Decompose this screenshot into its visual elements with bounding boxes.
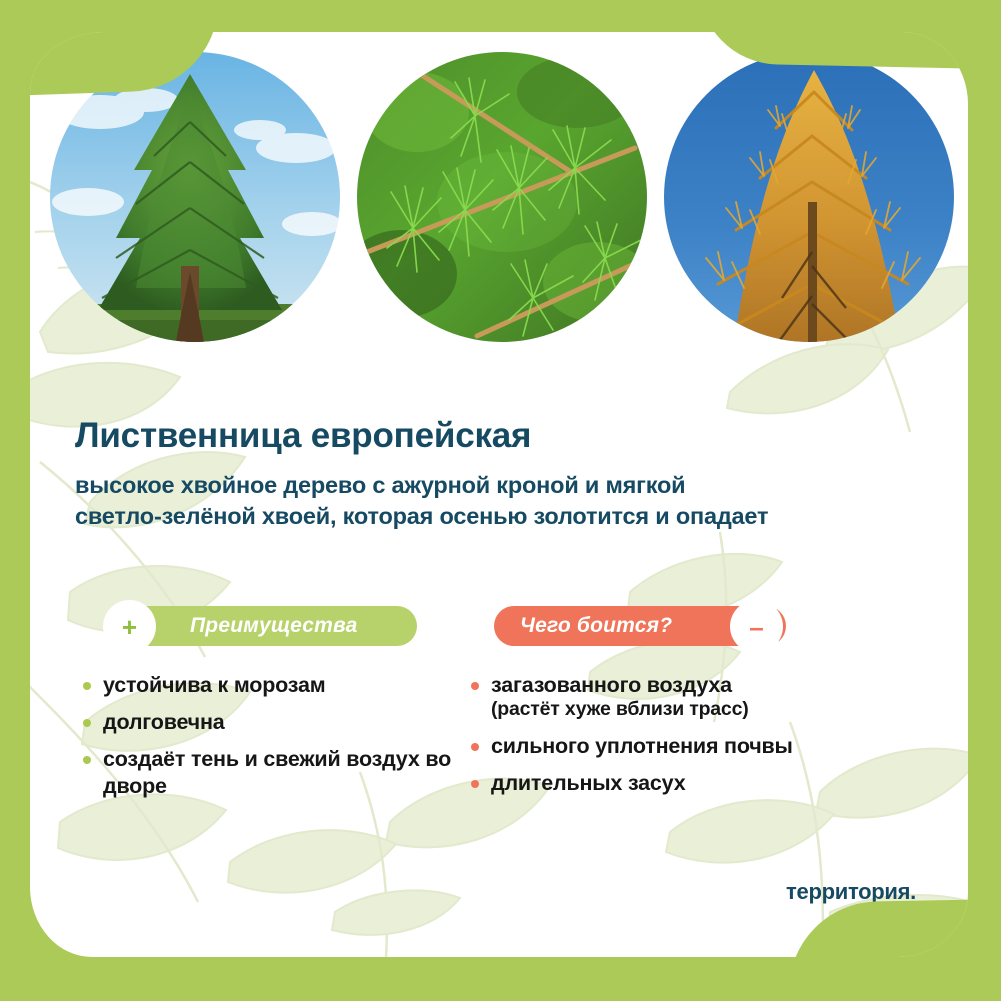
badge-pros-label: Преимущества xyxy=(190,614,358,638)
plus-icon: + xyxy=(103,600,156,653)
photo-strip xyxy=(30,32,968,392)
list-item: создаёт тень и свежий воздух во дворе xyxy=(75,746,463,798)
cons-list: загазованного воздуха (растёт хуже вблиз… xyxy=(463,672,933,796)
pros-item-text: устойчива к морозам xyxy=(103,673,325,697)
photo-larch-tree-autumn xyxy=(664,52,954,342)
card-corner-notch-bottom-right xyxy=(787,899,968,957)
pros-item-text: долговечна xyxy=(103,710,225,734)
cons-item-text: загазованного воздуха xyxy=(491,673,732,697)
text-block: Лиственница европейская высокое хвойное … xyxy=(75,417,935,533)
subtitle-line-2: светло-зелёной хвоей, которая осенью зол… xyxy=(75,503,768,529)
minus-icon: – xyxy=(730,600,783,653)
pros-list: устойчива к морозам долговечна создаёт т… xyxy=(75,672,463,799)
list-item: долговечна xyxy=(75,709,463,735)
lists-row: устойчива к морозам долговечна создаёт т… xyxy=(75,672,965,810)
badge-cons-label: Чего боится? xyxy=(520,614,672,638)
photo-larch-needles-closeup xyxy=(357,52,647,342)
pros-column: устойчива к морозам долговечна создаёт т… xyxy=(75,672,463,810)
cons-item-text: длительных засух xyxy=(491,771,685,795)
cons-item-note: (растёт хуже вблизи трасс) xyxy=(491,698,933,721)
photo-larch-needles-art xyxy=(357,52,647,342)
content-card: Лиственница европейская высокое хвойное … xyxy=(30,32,968,957)
list-item: длительных засух xyxy=(463,770,933,796)
list-item: сильного уплотнения почвы xyxy=(463,733,933,759)
cons-item-text: сильного уплотнения почвы xyxy=(491,734,793,758)
page-title: Лиственница европейская xyxy=(75,417,935,456)
badge-row: Преимущества + Чего боится? – xyxy=(75,602,955,652)
badge-pros[interactable]: Преимущества xyxy=(118,606,417,646)
page-subtitle: высокое хвойное дерево с ажурной кроной … xyxy=(75,470,935,533)
subtitle-line-1: высокое хвойное дерево с ажурной кроной … xyxy=(75,472,685,498)
poster-root: Лиственница европейская высокое хвойное … xyxy=(0,0,1001,1001)
pros-item-text: создаёт тень и свежий воздух во дворе xyxy=(103,747,451,797)
list-item: устойчива к морозам xyxy=(75,672,463,698)
photo-larch-autumn-art xyxy=(664,52,954,342)
list-item: загазованного воздуха (растёт хуже вблиз… xyxy=(463,672,933,722)
photo-larch-tree-summer-art xyxy=(50,52,340,342)
photo-larch-tree-summer xyxy=(50,52,340,342)
cons-column: загазованного воздуха (растёт хуже вблиз… xyxy=(463,672,933,810)
